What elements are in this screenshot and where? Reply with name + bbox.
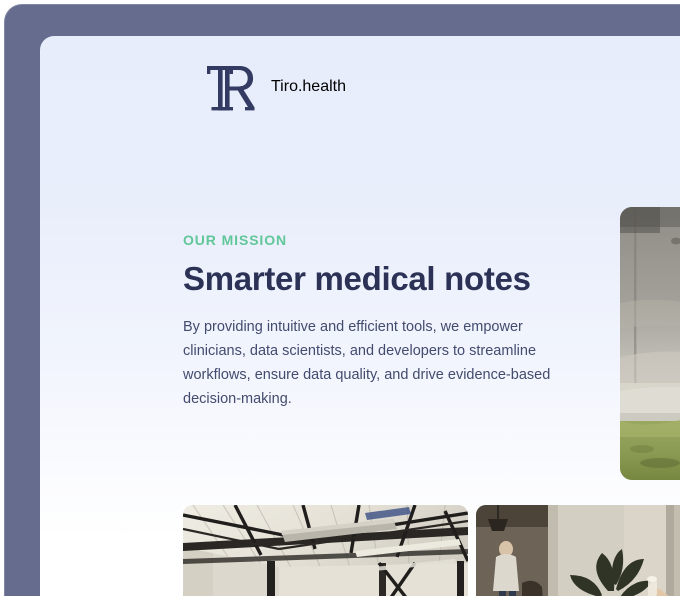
site-header: Tiro.health Solutions [40,36,680,132]
photo-warehouse [183,505,468,596]
photo-people [476,505,680,596]
hero-eyebrow: OUR MISSION [183,232,583,248]
warehouse-interior-steel-beams-photo [183,505,468,596]
page-title: Smarter medical notes [183,260,583,298]
website-page-panel: Tiro.health Solutions OUR MISSION Smarte… [40,36,680,596]
people-indoor-plants-photo [476,505,680,596]
concrete-wall-grass-photo [620,207,680,480]
hero-description: By providing intuitive and efficient too… [183,316,573,412]
tiro-monogram-icon [205,58,255,116]
brand-name: Tiro.health [271,78,346,96]
photo-concrete-wall [620,207,680,480]
hero-section: OUR MISSION Smarter medical notes By pro… [183,232,583,412]
desktop-background: Tiro.health Solutions OUR MISSION Smarte… [0,0,680,596]
photo-row [183,505,680,596]
brand-logo-group[interactable]: Tiro.health [205,58,346,116]
